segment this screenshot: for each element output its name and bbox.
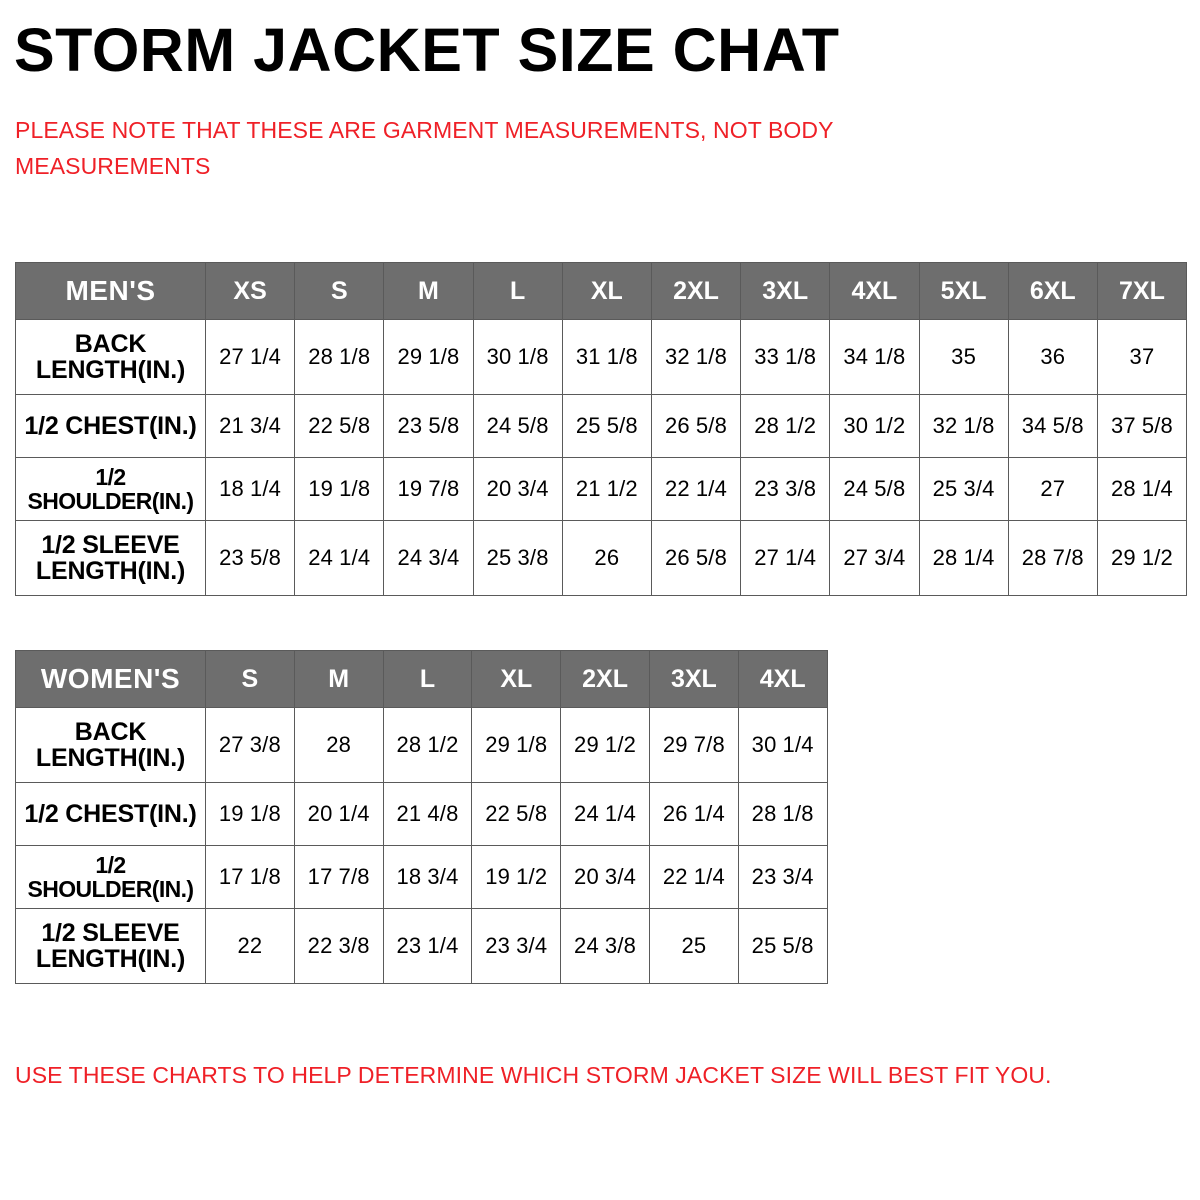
measurement-cell: 245/8	[830, 458, 919, 521]
measurement-cell: 297/8	[649, 708, 738, 783]
measurement-cell: 341/8	[830, 320, 919, 395]
measurement-cell: 291/8	[472, 708, 561, 783]
measurement-cell: 233/8	[741, 458, 830, 521]
measurement-cell: 183/4	[383, 846, 472, 909]
garment-measurement-note: PLEASE NOTE THAT THESE ARE GARMENT MEASU…	[15, 113, 1015, 184]
womens-measurement-label: BACKLENGTH(IN.)	[16, 708, 206, 783]
measurement-cell: 37	[1097, 320, 1186, 395]
table-row: BACKLENGTH(IN.)273/828281/2291/8291/2297…	[16, 708, 828, 783]
womens-measurement-label: 1/2 SLEEVELENGTH(IN.)	[16, 909, 206, 984]
womens-size-table: WOMEN'SSMLXL2XL3XL4XL BACKLENGTH(IN.)273…	[15, 650, 828, 984]
mens-size-header-5xl: 5XL	[919, 263, 1008, 320]
page-title: STORM JACKET SIZE CHAT	[14, 18, 840, 82]
measurement-cell: 273/8	[206, 708, 295, 783]
measurement-cell: 235/8	[384, 395, 473, 458]
mens-size-header-l: L	[473, 263, 562, 320]
measurement-cell: 281/2	[383, 708, 472, 783]
measurement-cell: 213/4	[206, 395, 295, 458]
measurement-cell: 291/8	[384, 320, 473, 395]
measurement-cell: 231/4	[383, 909, 472, 984]
measurement-cell: 271/4	[206, 320, 295, 395]
measurement-cell: 243/4	[384, 521, 473, 596]
measurement-cell: 26	[562, 521, 651, 596]
mens-size-header-xs: XS	[206, 263, 295, 320]
womens-size-header-xl: XL	[472, 651, 561, 708]
measurement-cell: 301/8	[473, 320, 562, 395]
measurement-cell: 253/4	[919, 458, 1008, 521]
measurement-cell: 221/4	[649, 846, 738, 909]
table-row: 1/2 SLEEVELENGTH(IN.)235/8241/4243/4253/…	[16, 521, 1187, 596]
measurement-cell: 241/4	[561, 783, 650, 846]
mens-size-header-7xl: 7XL	[1097, 263, 1186, 320]
measurement-cell: 223/8	[294, 909, 383, 984]
measurement-cell: 311/8	[562, 320, 651, 395]
measurement-cell: 233/4	[738, 846, 827, 909]
measurement-cell: 281/8	[295, 320, 384, 395]
measurement-cell: 255/8	[738, 909, 827, 984]
measurement-cell: 265/8	[651, 521, 740, 596]
womens-table-body: BACKLENGTH(IN.)273/828281/2291/8291/2297…	[16, 708, 828, 984]
mens-measurement-label: BACKLENGTH(IN.)	[16, 320, 206, 395]
table-row: 1/2 CHEST(IN.)213/4225/8235/8245/8255/82…	[16, 395, 1187, 458]
measurement-cell: 287/8	[1008, 521, 1097, 596]
womens-measurement-label: 1/2 SHOULDER(IN.)	[16, 846, 206, 909]
measurement-cell: 211/2	[562, 458, 651, 521]
womens-size-header-m: M	[294, 651, 383, 708]
mens-size-header-s: S	[295, 263, 384, 320]
mens-header-row: MEN'SXSSMLXL2XL3XL4XL5XL6XL7XL	[16, 263, 1187, 320]
measurement-cell: 235/8	[206, 521, 295, 596]
measurement-cell: 181/4	[206, 458, 295, 521]
measurement-cell: 203/4	[561, 846, 650, 909]
measurement-cell: 171/8	[206, 846, 295, 909]
measurement-cell: 271/4	[741, 521, 830, 596]
measurement-cell: 191/2	[472, 846, 561, 909]
measurement-cell: 27	[1008, 458, 1097, 521]
measurement-cell: 345/8	[1008, 395, 1097, 458]
measurement-cell: 273/4	[830, 521, 919, 596]
mens-size-header-3xl: 3XL	[741, 263, 830, 320]
measurement-cell: 22	[206, 909, 295, 984]
measurement-cell: 225/8	[472, 783, 561, 846]
table-row: 1/2 CHEST(IN.)191/8201/4214/8225/8241/42…	[16, 783, 828, 846]
measurement-cell: 201/4	[294, 783, 383, 846]
womens-size-header-s: S	[206, 651, 295, 708]
measurement-cell: 291/2	[1097, 521, 1186, 596]
measurement-cell: 331/8	[741, 320, 830, 395]
measurement-cell: 255/8	[562, 395, 651, 458]
measurement-cell: 321/8	[651, 320, 740, 395]
womens-size-header-l: L	[383, 651, 472, 708]
measurement-cell: 301/4	[738, 708, 827, 783]
measurement-cell: 301/2	[830, 395, 919, 458]
womens-size-header-2xl: 2XL	[561, 651, 650, 708]
measurement-cell: 241/4	[295, 521, 384, 596]
measurement-cell: 265/8	[651, 395, 740, 458]
measurement-cell: 261/4	[649, 783, 738, 846]
table-row: 1/2 SLEEVELENGTH(IN.)22223/8231/4233/424…	[16, 909, 828, 984]
mens-category-header: MEN'S	[16, 263, 206, 320]
measurement-cell: 35	[919, 320, 1008, 395]
measurement-cell: 214/8	[383, 783, 472, 846]
womens-header-row: WOMEN'SSMLXL2XL3XL4XL	[16, 651, 828, 708]
table-row: 1/2 SHOULDER(IN.)181/4191/8197/8203/4211…	[16, 458, 1187, 521]
mens-measurement-label: 1/2 CHEST(IN.)	[16, 395, 206, 458]
measurement-cell: 25	[649, 909, 738, 984]
table-row: 1/2 SHOULDER(IN.)171/8177/8183/4191/2203…	[16, 846, 828, 909]
measurement-cell: 191/8	[206, 783, 295, 846]
measurement-cell: 191/8	[295, 458, 384, 521]
mens-size-header-4xl: 4XL	[830, 263, 919, 320]
measurement-cell: 253/8	[473, 521, 562, 596]
measurement-cell: 281/4	[919, 521, 1008, 596]
womens-table-head: WOMEN'SSMLXL2XL3XL4XL	[16, 651, 828, 708]
mens-table-body: BACKLENGTH(IN.)271/4281/8291/8301/8311/8…	[16, 320, 1187, 596]
womens-size-header-3xl: 3XL	[649, 651, 738, 708]
size-chart-page: STORM JACKET SIZE CHAT PLEASE NOTE THAT …	[0, 0, 1200, 1200]
measurement-cell: 36	[1008, 320, 1097, 395]
measurement-cell: 197/8	[384, 458, 473, 521]
mens-size-header-6xl: 6XL	[1008, 263, 1097, 320]
womens-measurement-label: 1/2 CHEST(IN.)	[16, 783, 206, 846]
measurement-cell: 281/2	[741, 395, 830, 458]
mens-size-header-xl: XL	[562, 263, 651, 320]
womens-category-header: WOMEN'S	[16, 651, 206, 708]
womens-size-header-4xl: 4XL	[738, 651, 827, 708]
measurement-cell: 233/4	[472, 909, 561, 984]
table-row: BACKLENGTH(IN.)271/4281/8291/8301/8311/8…	[16, 320, 1187, 395]
mens-measurement-label: 1/2 SHOULDER(IN.)	[16, 458, 206, 521]
measurement-cell: 225/8	[295, 395, 384, 458]
measurement-cell: 375/8	[1097, 395, 1186, 458]
measurement-cell: 281/8	[738, 783, 827, 846]
mens-table-head: MEN'SXSSMLXL2XL3XL4XL5XL6XL7XL	[16, 263, 1187, 320]
measurement-cell: 321/8	[919, 395, 1008, 458]
measurement-cell: 245/8	[473, 395, 562, 458]
footer-help-text: USE THESE CHARTS TO HELP DETERMINE WHICH…	[15, 1062, 1185, 1089]
measurement-cell: 243/8	[561, 909, 650, 984]
mens-size-header-m: M	[384, 263, 473, 320]
measurement-cell: 281/4	[1097, 458, 1186, 521]
measurement-cell: 28	[294, 708, 383, 783]
measurement-cell: 177/8	[294, 846, 383, 909]
mens-measurement-label: 1/2 SLEEVELENGTH(IN.)	[16, 521, 206, 596]
mens-size-table: MEN'SXSSMLXL2XL3XL4XL5XL6XL7XL BACKLENGT…	[15, 262, 1187, 596]
measurement-cell: 291/2	[561, 708, 650, 783]
measurement-cell: 203/4	[473, 458, 562, 521]
mens-size-header-2xl: 2XL	[651, 263, 740, 320]
measurement-cell: 221/4	[651, 458, 740, 521]
